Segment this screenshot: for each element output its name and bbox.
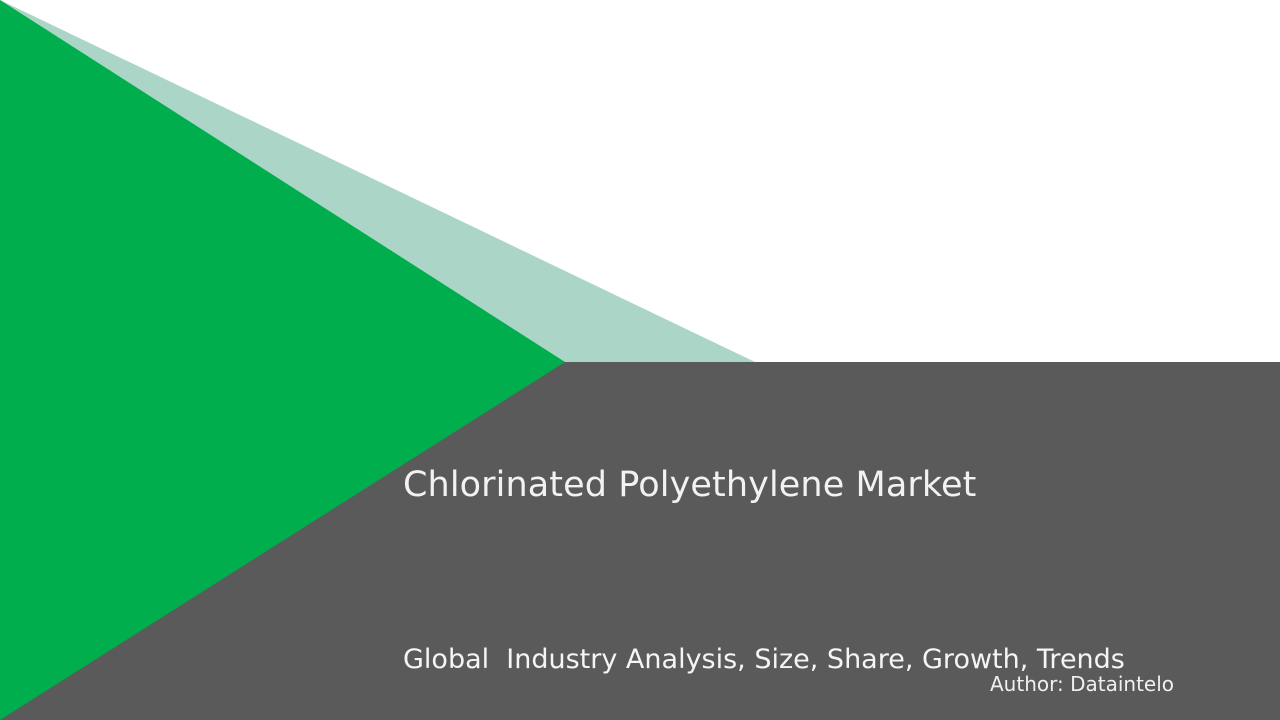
title-slide: Chlorinated Polyethylene Market Global I… bbox=[0, 0, 1280, 720]
page-title: Chlorinated Polyethylene Market bbox=[403, 462, 1203, 508]
author-credit: Author: Dataintelo bbox=[990, 672, 1174, 696]
